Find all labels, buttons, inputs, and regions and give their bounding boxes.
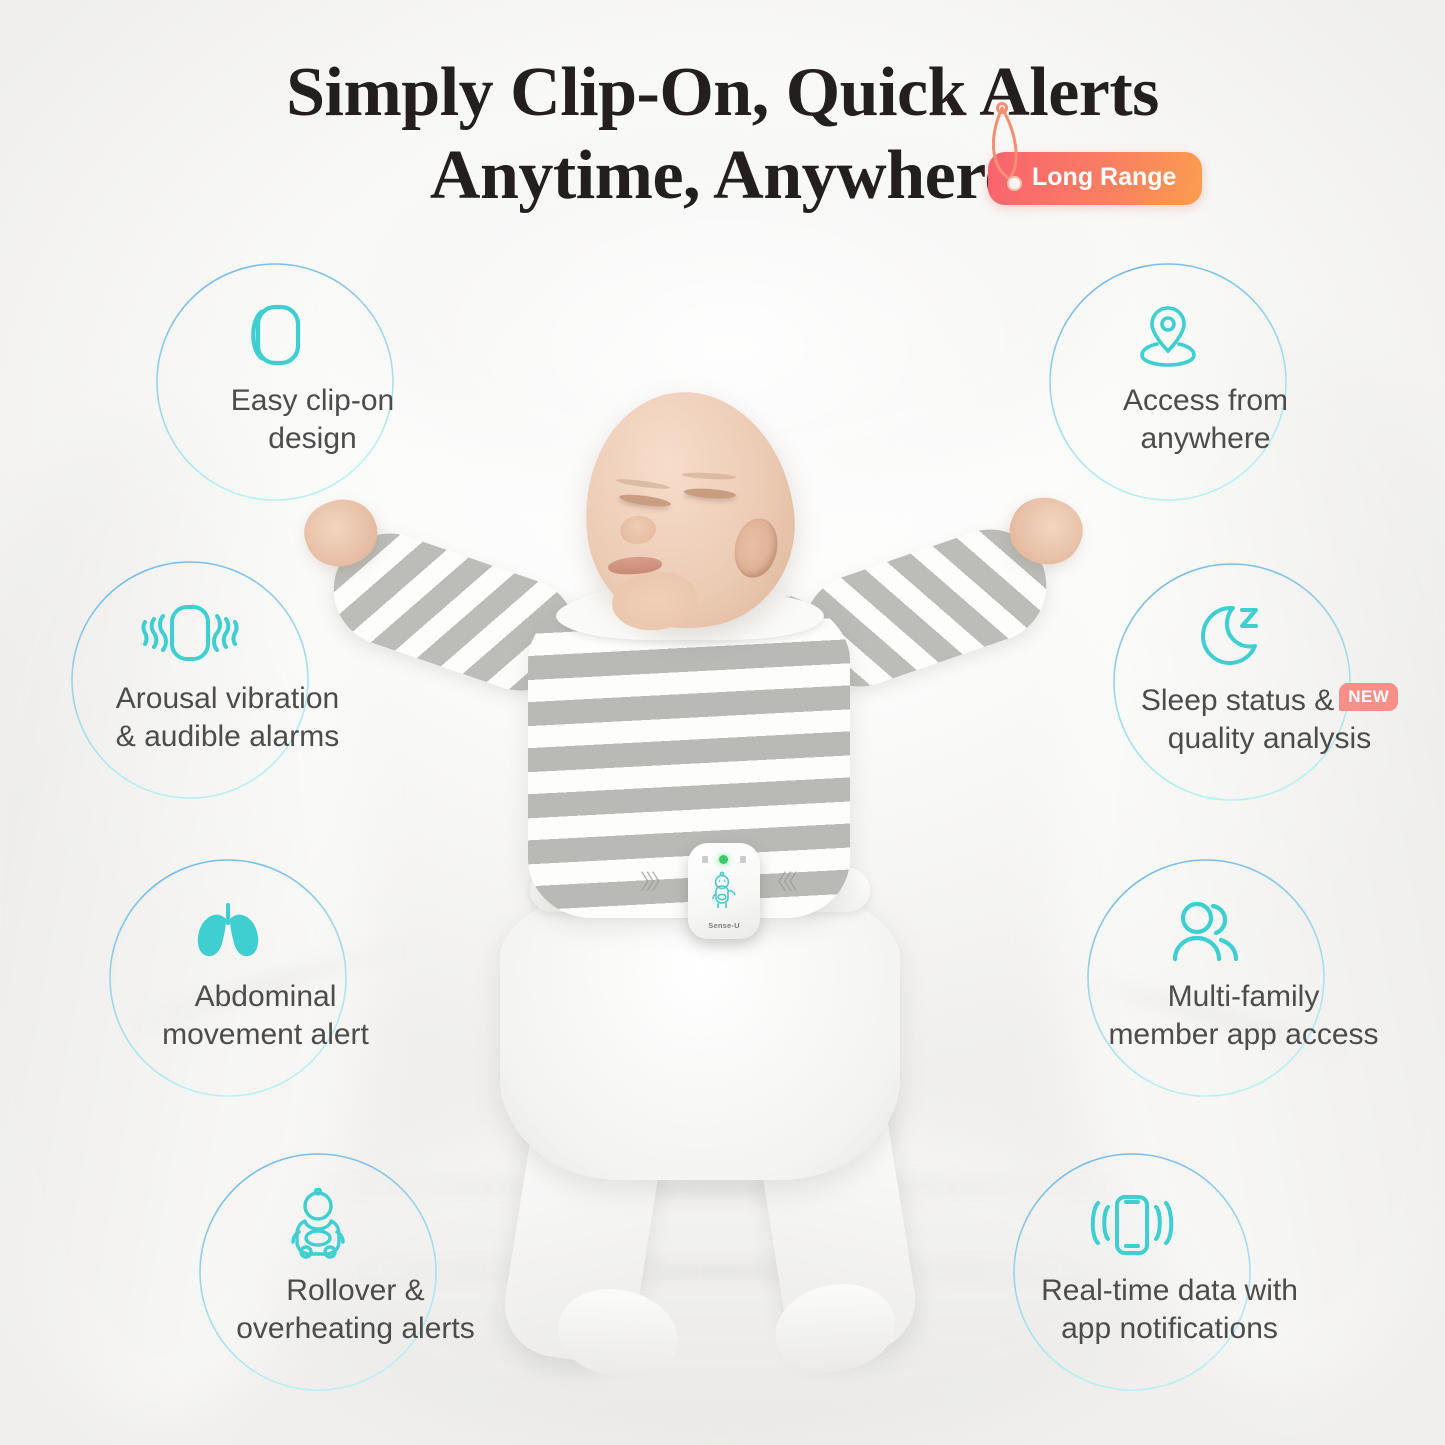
tag-string-icon [966,100,1056,215]
feature-label-part2: quality analysis [1168,722,1371,755]
location-pin-icon [1133,298,1203,372]
feature-label: Abdominal movement alert [101,978,431,1054]
title-line-1: Simply Clip-On, Quick Alerts [0,52,1445,135]
title-line-2: Anytime, Anywhere [430,135,1015,218]
long-range-tag[interactable]: Long Range [988,152,1202,205]
feature-label: Easy clip-on design [148,382,478,458]
vibration-chevron-right-icon: 〈〈〈 [766,866,793,896]
vibration-chevron-left-icon: 〉〉〉 [640,866,667,896]
feature-label: Real-time data with app notifications [1005,1272,1335,1348]
baby-rollover-icon [287,1188,349,1262]
tag-hole-icon [1007,176,1022,191]
clip-on-device-icon [244,298,306,372]
moon-sleep-icon [1195,598,1269,672]
infographic-canvas: 〉〉〉 〈〈〈 Sense-U [0,0,1445,1445]
sense-u-sensor-device[interactable]: Sense-U [688,843,760,939]
feature-label-part1: Sleep status & [1141,684,1334,717]
device-brand-label: Sense-U [688,921,760,930]
device-indicator-power-icon [740,856,746,863]
device-indicator-battery-icon [702,856,708,863]
feature-label: Multi-family member app access [1079,978,1409,1054]
page-title: Simply Clip-On, Quick Alerts Anytime, An… [0,52,1445,217]
feature-label: Arousal vibration & audible alarms [63,680,393,756]
device-status-led [719,855,728,864]
sense-u-baby-logo-icon [707,871,741,916]
two-people-icon [1169,894,1243,968]
lungs-icon [193,894,263,968]
new-badge: NEW [1339,683,1398,711]
feature-label: Rollover & overheating alerts [191,1272,521,1348]
phone-signal-icon [1084,1188,1180,1262]
feature-label: Access from anywhere [1041,382,1371,458]
vibration-alarm-icon [136,596,244,670]
feature-label: Sleep status &NEWquality analysis [1105,682,1435,758]
